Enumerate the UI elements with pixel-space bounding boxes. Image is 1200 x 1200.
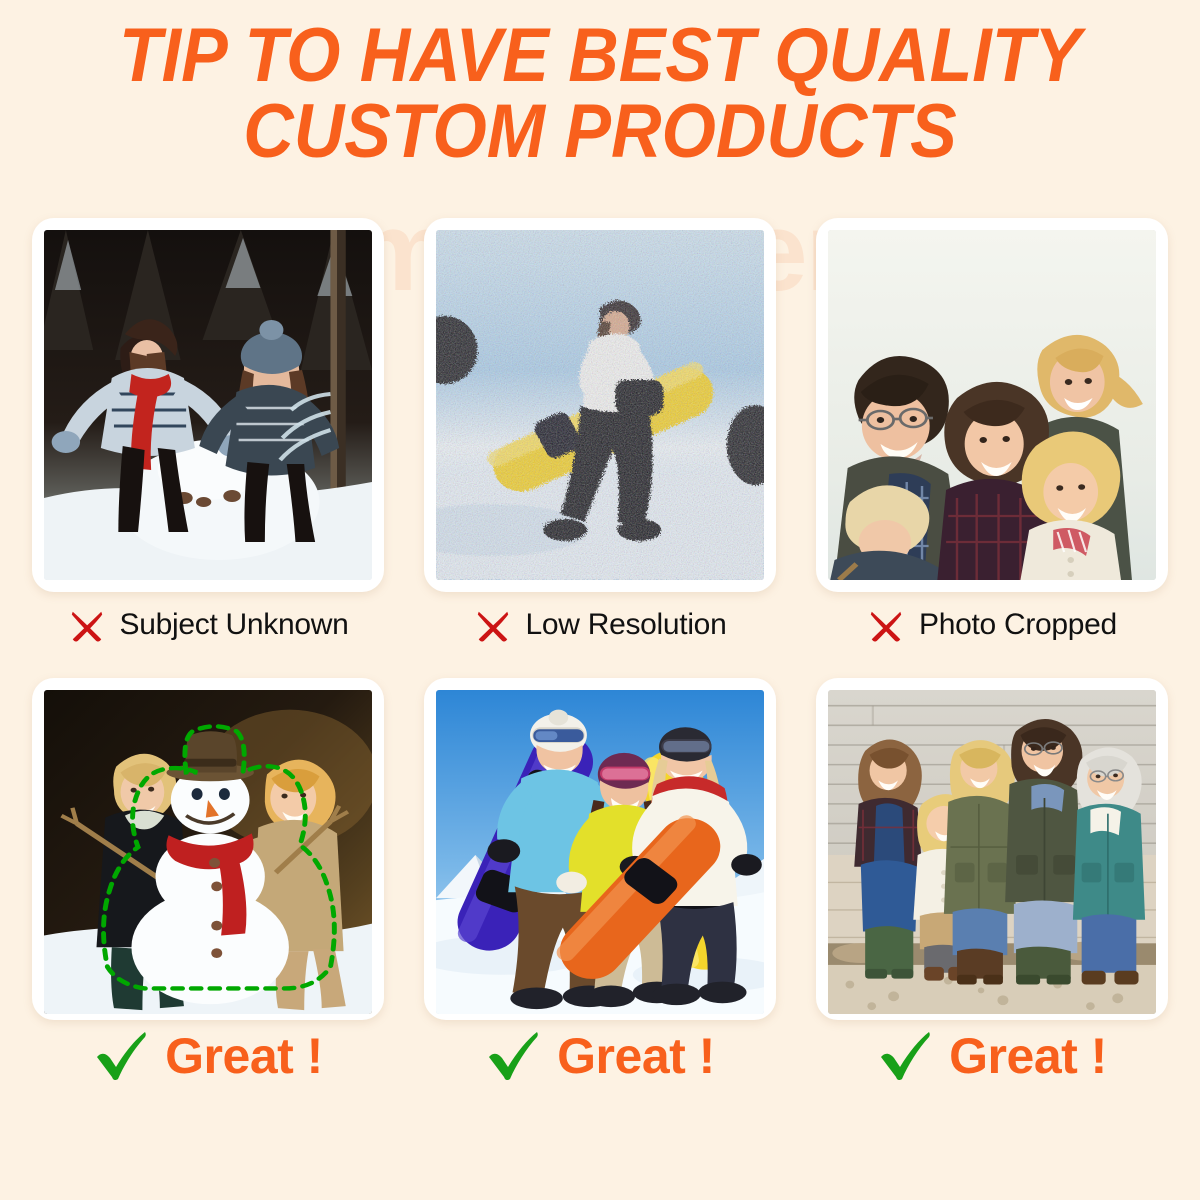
good-example-family: Great ! bbox=[816, 678, 1168, 1148]
green-check-icon bbox=[93, 1028, 149, 1084]
photo-card bbox=[424, 678, 776, 1020]
photo-card bbox=[816, 678, 1168, 1020]
green-check-icon bbox=[877, 1028, 933, 1084]
photo-pixelated-snowboarder bbox=[436, 230, 764, 580]
photo-three-snowboarders bbox=[436, 690, 764, 1014]
red-x-icon bbox=[474, 606, 512, 644]
good-label-text: Great ! bbox=[165, 1031, 323, 1081]
red-x-icon bbox=[68, 606, 106, 644]
infographic-page: macorner TIP TO HAVE BEST QUALITY CUSTOM… bbox=[0, 0, 1200, 1200]
bad-example-subject-unknown: Subject Unknown bbox=[32, 218, 384, 670]
photo-family-of-five bbox=[828, 690, 1156, 1014]
red-x-icon bbox=[867, 606, 905, 644]
photo-card bbox=[424, 218, 776, 592]
page-title: TIP TO HAVE BEST QUALITY CUSTOM PRODUCTS bbox=[48, 18, 1152, 170]
bad-example-low-resolution: Low Resolution bbox=[424, 218, 776, 670]
caption-text: Low Resolution bbox=[526, 608, 727, 642]
page-title-line-2: CUSTOM PRODUCTS bbox=[48, 94, 1152, 170]
caption-low-resolution: Low Resolution bbox=[474, 606, 727, 644]
good-label: Great ! bbox=[485, 1020, 715, 1094]
photo-two-women-building-snowman bbox=[44, 230, 372, 580]
photo-snowman-with-green-outline bbox=[44, 690, 372, 1014]
bad-example-photo-cropped: Photo Cropped bbox=[816, 218, 1168, 670]
caption-subject-unknown: Subject Unknown bbox=[68, 606, 349, 644]
photo-card bbox=[32, 678, 384, 1020]
good-example-snowboarders: Great ! bbox=[424, 678, 776, 1148]
good-label: Great ! bbox=[877, 1020, 1107, 1094]
bad-examples-row: Subject Unknown bbox=[0, 218, 1200, 670]
good-example-snowman-outline: Great ! bbox=[32, 678, 384, 1148]
green-check-icon bbox=[485, 1028, 541, 1084]
good-label: Great ! bbox=[93, 1020, 323, 1094]
good-label-text: Great ! bbox=[557, 1031, 715, 1081]
photo-card bbox=[32, 218, 384, 592]
photo-card bbox=[816, 218, 1168, 592]
caption-text: Photo Cropped bbox=[919, 608, 1117, 642]
photo-family-cropped bbox=[828, 230, 1156, 580]
caption-text: Subject Unknown bbox=[120, 608, 349, 642]
caption-photo-cropped: Photo Cropped bbox=[867, 606, 1117, 644]
examples-grid: Subject Unknown bbox=[0, 218, 1200, 1148]
good-label-text: Great ! bbox=[949, 1031, 1107, 1081]
good-examples-row: Great ! bbox=[0, 678, 1200, 1148]
page-title-line-1: TIP TO HAVE BEST QUALITY bbox=[48, 18, 1152, 94]
